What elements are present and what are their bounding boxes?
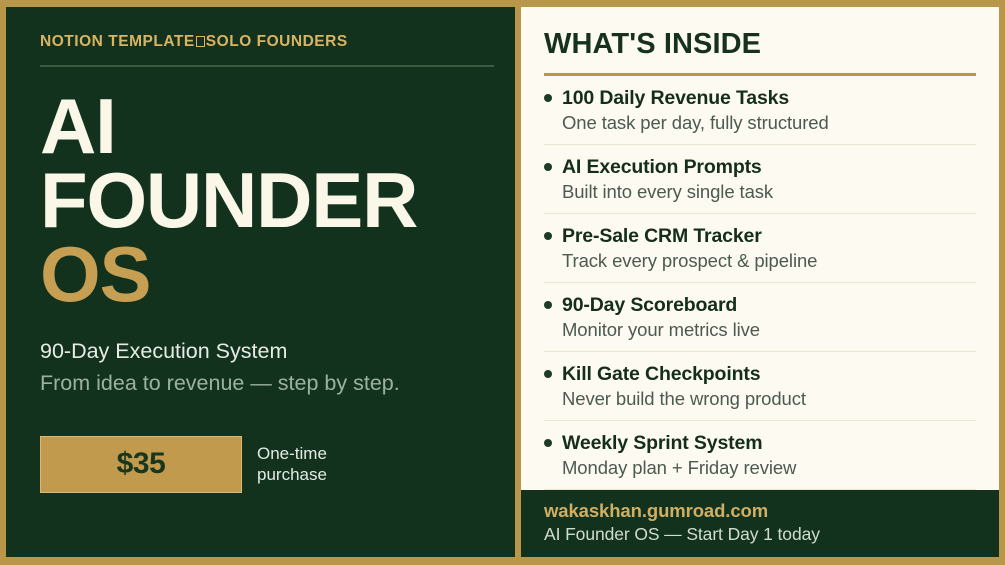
eyebrow-label: NOTION TEMPLATESOLO FOUNDERS (40, 33, 515, 51)
feature-subtitle: Never build the wrong product (562, 388, 976, 410)
price-badge[interactable]: $35 (40, 436, 242, 493)
feature-subtitle: Track every prospect & pipeline (562, 250, 976, 272)
bullet-dot-icon (544, 94, 552, 102)
price-row: $35 One-time purchase (40, 436, 515, 493)
missing-glyph-box-icon (196, 36, 205, 47)
feature-title: Pre-Sale CRM Tracker (562, 225, 762, 248)
list-item: Pre-Sale CRM Tracker Track every prospec… (544, 214, 976, 283)
price-note-line-2: purchase (257, 464, 327, 486)
list-item: 100 Daily Revenue Tasks One task per day… (544, 76, 976, 145)
price-note: One-time purchase (257, 443, 327, 487)
eyebrow-text-before: NOTION TEMPLATE (40, 33, 195, 50)
feature-subtitle: One task per day, fully structured (562, 112, 976, 134)
feature-subtitle: Monitor your metrics live (562, 319, 976, 341)
section-title: WHAT'S INSIDE (544, 28, 976, 61)
feature-title: Kill Gate Checkpoints (562, 363, 760, 386)
page-title: AI FOUNDER OS (40, 89, 515, 312)
feature-title: AI Execution Prompts (562, 156, 762, 179)
list-item: AI Execution Prompts Built into every si… (544, 145, 976, 214)
headline-line-1: AI (40, 89, 515, 163)
feature-head: Pre-Sale CRM Tracker (544, 225, 976, 248)
footer-url[interactable]: wakaskhan.gumroad.com (544, 500, 976, 522)
bullet-dot-icon (544, 163, 552, 171)
list-item: Weekly Sprint System Monday plan + Frida… (544, 421, 976, 490)
subtitle-primary: 90-Day Execution System (40, 338, 515, 366)
feature-head: AI Execution Prompts (544, 156, 976, 179)
footer-bar: wakaskhan.gumroad.com AI Founder OS — St… (521, 490, 999, 557)
bullet-dot-icon (544, 232, 552, 240)
feature-head: 100 Daily Revenue Tasks (544, 87, 976, 110)
feature-title: 100 Daily Revenue Tasks (562, 87, 789, 110)
feature-subtitle: Built into every single task (562, 181, 976, 203)
list-item: Kill Gate Checkpoints Never build the wr… (544, 352, 976, 421)
footer-tagline: AI Founder OS — Start Day 1 today (544, 524, 976, 545)
feature-head: Kill Gate Checkpoints (544, 363, 976, 386)
bullet-dot-icon (544, 370, 552, 378)
promo-card: NOTION TEMPLATESOLO FOUNDERS AI FOUNDER … (0, 0, 1005, 565)
feature-list: 100 Daily Revenue Tasks One task per day… (544, 76, 976, 490)
feature-title: 90-Day Scoreboard (562, 294, 737, 317)
eyebrow-divider (40, 65, 494, 67)
right-panel: WHAT'S INSIDE 100 Daily Revenue Tasks On… (521, 7, 999, 557)
feature-subtitle: Monday plan + Friday review (562, 457, 976, 479)
feature-title: Weekly Sprint System (562, 432, 762, 455)
headline-line-3-accent: OS (40, 237, 515, 311)
card-inner: NOTION TEMPLATESOLO FOUNDERS AI FOUNDER … (6, 7, 999, 557)
headline-line-2: FOUNDER (40, 163, 515, 237)
feature-head: 90-Day Scoreboard (544, 294, 976, 317)
bullet-dot-icon (544, 439, 552, 447)
feature-head: Weekly Sprint System (544, 432, 976, 455)
left-panel: NOTION TEMPLATESOLO FOUNDERS AI FOUNDER … (6, 7, 515, 557)
subtitle-secondary: From idea to revenue — step by step. (40, 370, 515, 398)
right-panel-body: WHAT'S INSIDE 100 Daily Revenue Tasks On… (521, 7, 999, 490)
eyebrow-text-after: SOLO FOUNDERS (206, 33, 348, 50)
price-note-line-1: One-time (257, 443, 327, 465)
list-item: 90-Day Scoreboard Monitor your metrics l… (544, 283, 976, 352)
bullet-dot-icon (544, 301, 552, 309)
